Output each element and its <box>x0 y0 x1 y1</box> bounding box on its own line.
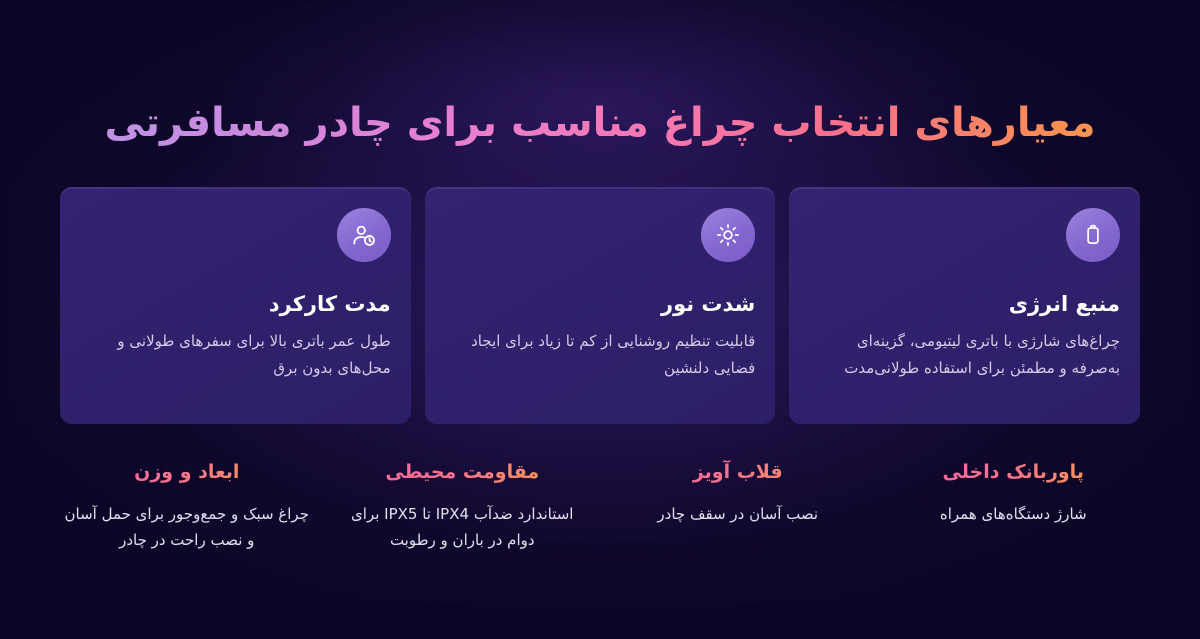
feature-item-weather-resistance[interactable]: مقاومت محیطی استاندارد ضدآب IPX4 تا IPX5… <box>331 458 595 554</box>
card-description: چراغ‌های شارژی با باتری لیتیومی، گزینه‌ا… <box>809 328 1120 381</box>
feature-item-size-weight[interactable]: ابعاد و وزن چراغ سبک و جمع‌وجور برای حمل… <box>55 458 319 554</box>
sun-icon <box>701 208 755 262</box>
feature-item-hanging-hook[interactable]: قلاب آویز نصب آسان در سقف چادر <box>606 458 870 554</box>
feature-item-powerbank[interactable]: پاوربانک داخلی شارژ دستگاه‌های همراه <box>882 458 1146 554</box>
criteria-card-runtime[interactable]: مدت کارکرد طول عمر باتری بالا برای سفرها… <box>60 187 411 424</box>
feature-title: ابعاد و وزن <box>61 458 313 487</box>
criteria-card-energy-source[interactable]: منبع انرژی چراغ‌های شارژی با باتری لیتیو… <box>789 187 1140 424</box>
feature-description: نصب آسان در سقف چادر <box>612 501 864 528</box>
card-description: طول عمر باتری بالا برای سفرهای طولانی و … <box>80 328 391 381</box>
feature-title: پاوربانک داخلی <box>888 458 1140 487</box>
card-title: مدت کارکرد <box>80 290 391 319</box>
battery-icon <box>1066 208 1120 262</box>
card-icon-container <box>80 208 391 262</box>
criteria-cards-row: منبع انرژی چراغ‌های شارژی با باتری لیتیو… <box>60 187 1140 424</box>
criteria-card-light-intensity[interactable]: شدت نور قابلیت تنظیم روشنایی از کم تا زی… <box>425 187 776 424</box>
card-icon-container <box>445 208 756 262</box>
feature-title: مقاومت محیطی <box>337 458 589 487</box>
feature-description: چراغ سبک و جمع‌وجور برای حمل آسان و نصب … <box>61 501 313 554</box>
feature-title: قلاب آویز <box>612 458 864 487</box>
card-icon-container <box>809 208 1120 262</box>
card-description: قابلیت تنظیم روشنایی از کم تا زیاد برای … <box>445 328 756 381</box>
card-title: شدت نور <box>445 290 756 319</box>
feature-description: استاندارد ضدآب IPX4 تا IPX5 برای دوام در… <box>337 501 589 554</box>
feature-highlights-row: پاوربانک داخلی شارژ دستگاه‌های همراه قلا… <box>55 458 1145 554</box>
user-clock-icon <box>337 208 391 262</box>
card-title: منبع انرژی <box>809 290 1120 319</box>
page-title: معیارهای انتخاب چراغ مناسب برای چادر مسا… <box>0 96 1200 150</box>
infographic-stage: معیارهای انتخاب چراغ مناسب برای چادر مسا… <box>0 0 1200 639</box>
feature-description: شارژ دستگاه‌های همراه <box>888 501 1140 528</box>
